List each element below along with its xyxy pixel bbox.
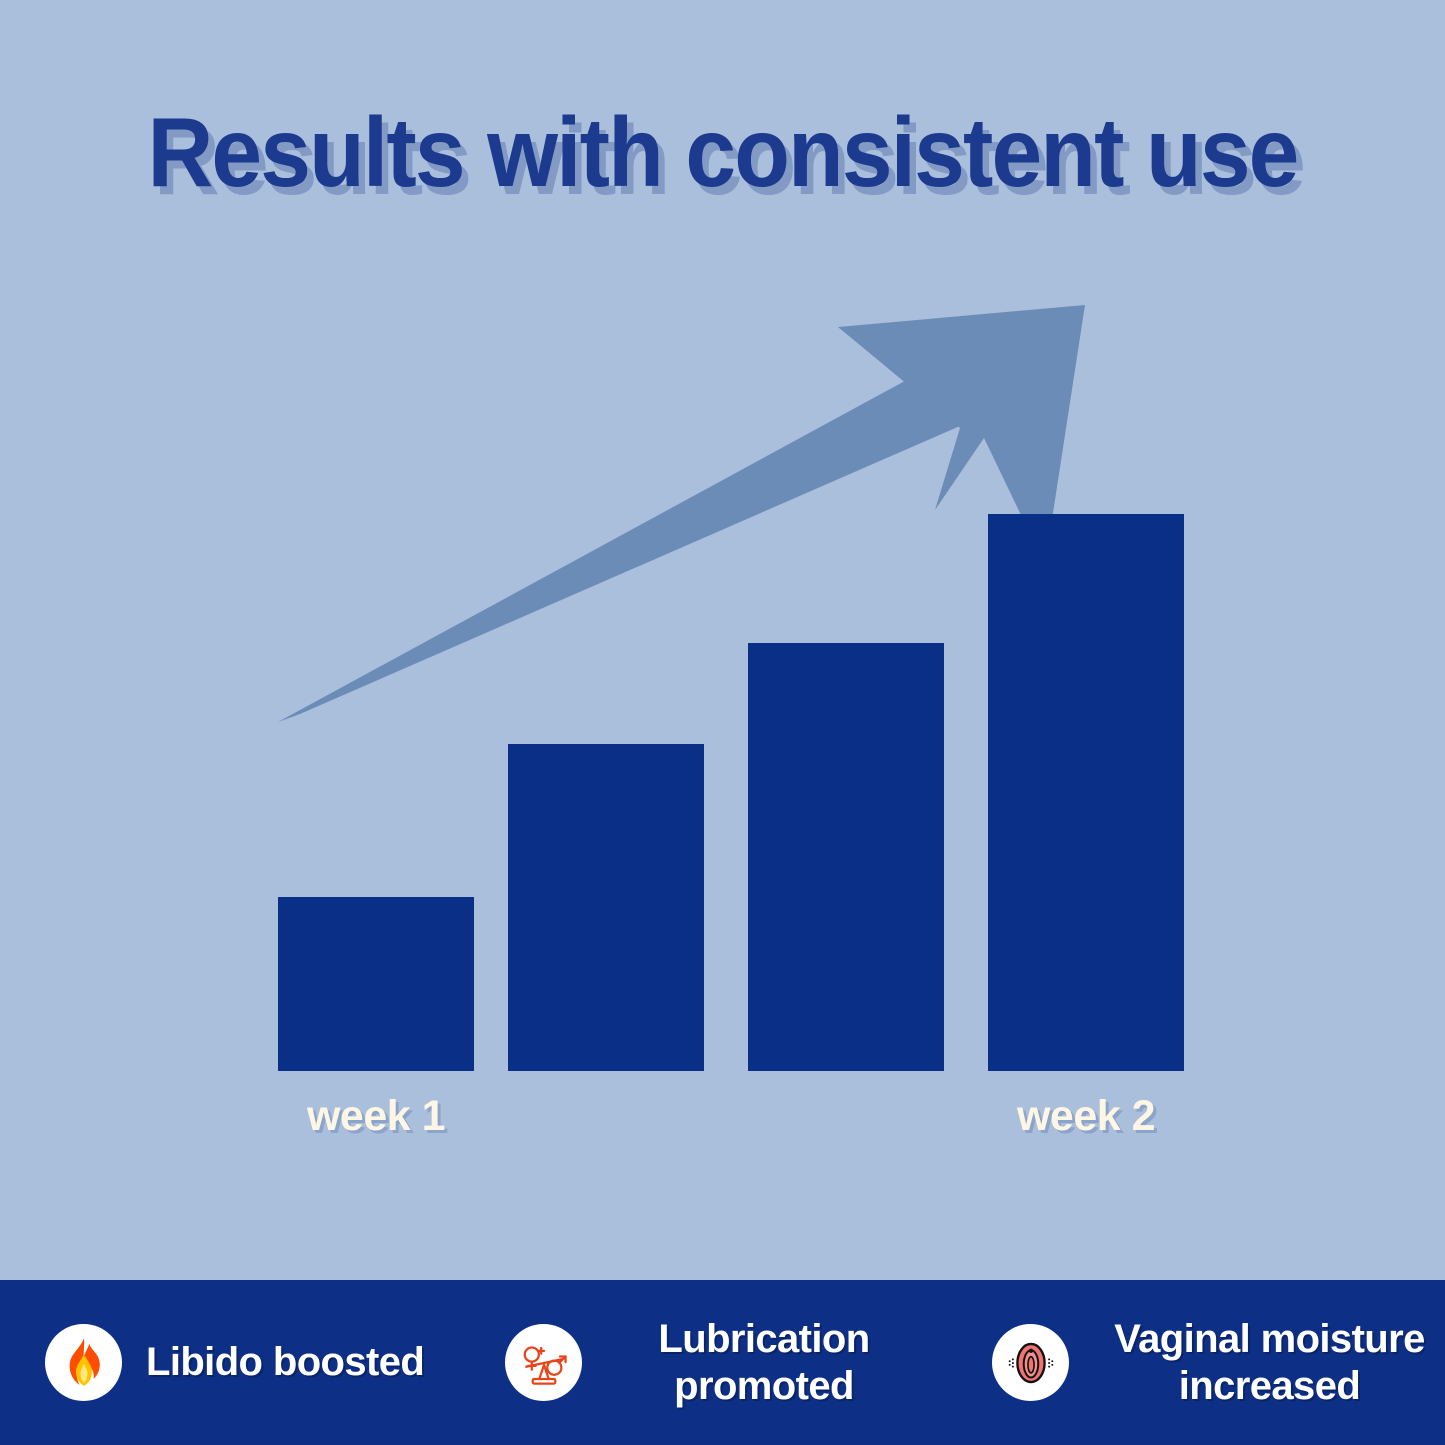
fire-icon — [45, 1324, 122, 1401]
benefit-item-lubrication: Lubrication promoted — [483, 1280, 964, 1445]
benefit-label-moisture-line2: increased — [1179, 1364, 1360, 1408]
benefit-item-libido: Libido boosted — [0, 1280, 483, 1445]
benefit-label-lubrication-line1: Lubrication — [658, 1317, 869, 1361]
benefit-item-moisture: Vaginal moisture increased — [964, 1280, 1445, 1445]
bar-week-1 — [278, 897, 474, 1071]
bar-2 — [508, 744, 704, 1071]
axis-label-week-1: week 1 — [278, 1092, 474, 1141]
bar-3 — [748, 643, 944, 1071]
benefit-label-lubrication: Lubrication promoted — [614, 1316, 914, 1409]
vulva-anatomy-icon — [992, 1324, 1069, 1401]
benefit-label-moisture-line1: Vaginal moisture — [1114, 1317, 1425, 1361]
promo-poster: Results with consistent use week 1 week … — [0, 0, 1445, 1445]
growth-arrow-icon — [0, 0, 1445, 1280]
benefits-banner: Libido boosted — [0, 1280, 1445, 1445]
benefit-label-moisture: Vaginal moisture increased — [1097, 1316, 1442, 1409]
bar-chart: week 1 week 2 — [0, 0, 1445, 1280]
benefit-label-lubrication-line2: promoted — [674, 1364, 854, 1408]
benefit-label-libido: Libido boosted — [146, 1339, 424, 1385]
gender-balance-scale-icon — [505, 1324, 582, 1401]
axis-label-week-2: week 2 — [988, 1092, 1184, 1141]
bar-week-2 — [988, 514, 1184, 1071]
